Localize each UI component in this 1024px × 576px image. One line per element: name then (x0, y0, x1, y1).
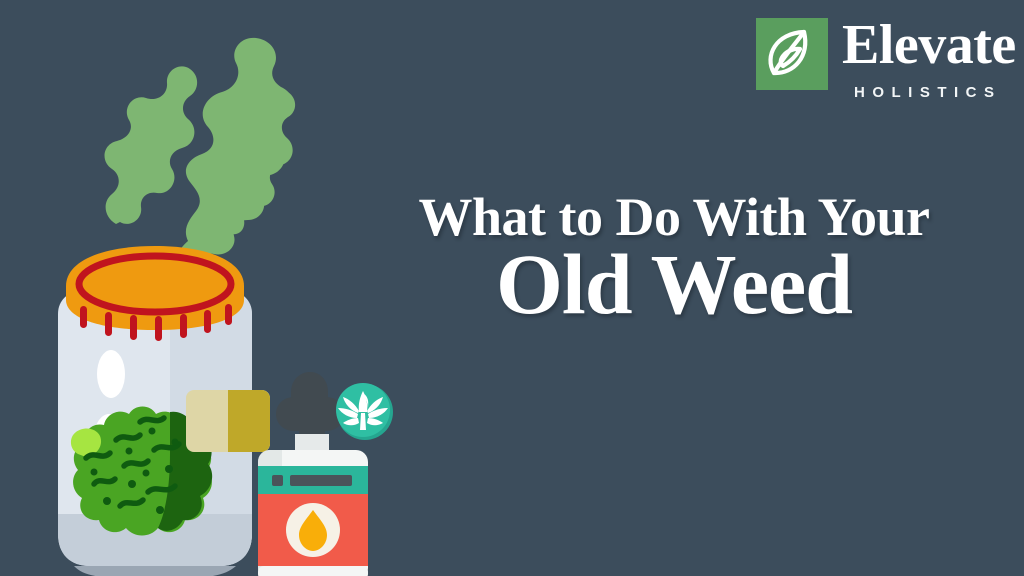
page-title: What to Do With Your Old Weed (384, 188, 964, 326)
promotional-banner: Elevate HOLISTICS What to Do With Your O… (0, 0, 1024, 576)
brand-logo[interactable]: Elevate HOLISTICS (756, 18, 1000, 102)
brand-wordmark: Elevate (842, 14, 1016, 76)
jar-label-icon (186, 390, 270, 452)
droplet-icon (286, 503, 340, 557)
leaf-icon (756, 18, 828, 90)
dropper-cap-icon (276, 372, 344, 440)
smoke-wisps-icon (105, 38, 296, 273)
cannabis-leaf-badge-icon (336, 383, 393, 440)
cannabis-storage-jar-illustration (20, 14, 420, 576)
headline-line-2: Old Weed (384, 242, 964, 326)
brand-tagline: HOLISTICS (854, 84, 1002, 101)
